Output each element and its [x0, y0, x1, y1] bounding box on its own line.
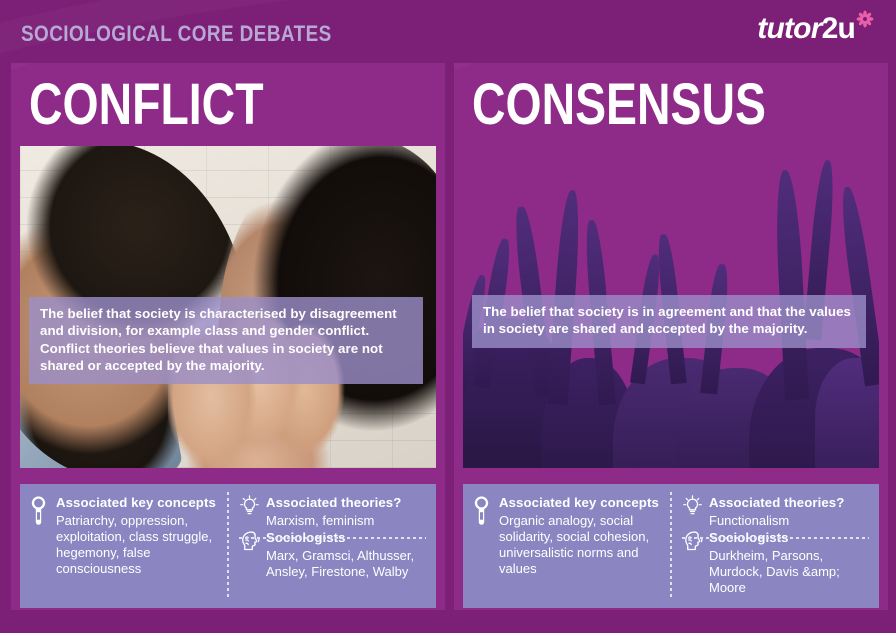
consensus-theories-sociologists-column: Associated theories? Functionalism Socio…	[670, 484, 879, 608]
consensus-theories-body: Functionalism	[709, 513, 871, 529]
consensus-theories-heading: Associated theories?	[709, 495, 844, 510]
consensus-theories-text: Associated theories? Functionalism	[709, 494, 871, 529]
consensus-key-concepts-block: Associated key concepts Organic analogy,…	[472, 494, 662, 576]
consensus-card: CONSENSUS The belief that society is in …	[454, 63, 888, 610]
conflict-theories-body: Marxism, feminism	[266, 513, 428, 529]
poster-header: SOCIOLOGICAL CORE DEBATES tutor2u	[0, 0, 896, 63]
consensus-sociologists-body: Durkheim, Parsons, Murdock, Davis &amp; …	[709, 548, 871, 596]
logo-word-tutor: tutor	[757, 12, 821, 45]
flower-asterisk-icon	[856, 10, 874, 33]
column-title-conflict: CONFLICT	[29, 76, 264, 134]
logo-wordmark: tutor2u	[757, 14, 855, 44]
head-brain-icon	[682, 529, 703, 557]
tutor2u-logo[interactable]: tutor2u	[757, 14, 874, 44]
lightbulb-icon	[239, 494, 260, 521]
key-icon	[29, 494, 50, 532]
conflict-key-concepts-column: Associated key concepts Patriarchy, oppr…	[20, 484, 227, 608]
logo-word-2u: 2u	[822, 12, 855, 45]
conflict-info-panel: Associated key concepts Patriarchy, oppr…	[20, 484, 436, 608]
horizontal-dotted-divider	[239, 537, 426, 539]
consensus-info-panel: Associated key concepts Organic analogy,…	[463, 484, 879, 608]
consensus-description-overlay: The belief that society is in agreement …	[472, 295, 866, 348]
column-title-consensus: CONSENSUS	[472, 76, 766, 134]
consensus-description-text: The belief that society is in agreement …	[483, 303, 855, 338]
key-icon	[472, 494, 493, 532]
conflict-card: CONFLICT The belief that society is char…	[11, 63, 445, 610]
conflict-description-text: The belief that society is characterised…	[40, 305, 412, 374]
lightbulb-icon	[682, 494, 703, 521]
consensus-key-concepts-column: Associated key concepts Organic analogy,…	[463, 484, 670, 608]
conflict-key-concepts-block: Associated key concepts Patriarchy, oppr…	[29, 494, 219, 576]
conflict-sociologists-body: Marx, Gramsci, Althusser, Ansley, Firest…	[266, 548, 428, 580]
head-brain-icon	[239, 529, 260, 557]
consensus-key-concepts-heading: Associated key concepts	[499, 495, 659, 510]
consensus-key-concepts-body: Organic analogy, social solidarity, soci…	[499, 513, 662, 576]
consensus-theories-block: Associated theories? Functionalism	[682, 494, 871, 529]
conflict-description-overlay: The belief that society is characterised…	[29, 297, 423, 384]
conflict-key-concepts-heading: Associated key concepts	[56, 495, 216, 510]
conflict-theories-sociologists-column: Associated theories? Marxism, feminism S…	[227, 484, 436, 608]
consensus-key-concepts-text: Associated key concepts Organic analogy,…	[499, 494, 662, 576]
conflict-key-concepts-text: Associated key concepts Patriarchy, oppr…	[56, 494, 219, 576]
page-title: SOCIOLOGICAL CORE DEBATES	[21, 21, 332, 47]
conflict-key-concepts-body: Patriarchy, oppression, exploitation, cl…	[56, 513, 219, 576]
horizontal-dotted-divider	[682, 537, 869, 539]
conflict-theories-heading: Associated theories?	[266, 495, 401, 510]
conflict-theories-text: Associated theories? Marxism, feminism	[266, 494, 428, 529]
conflict-theories-block: Associated theories? Marxism, feminism	[239, 494, 428, 529]
